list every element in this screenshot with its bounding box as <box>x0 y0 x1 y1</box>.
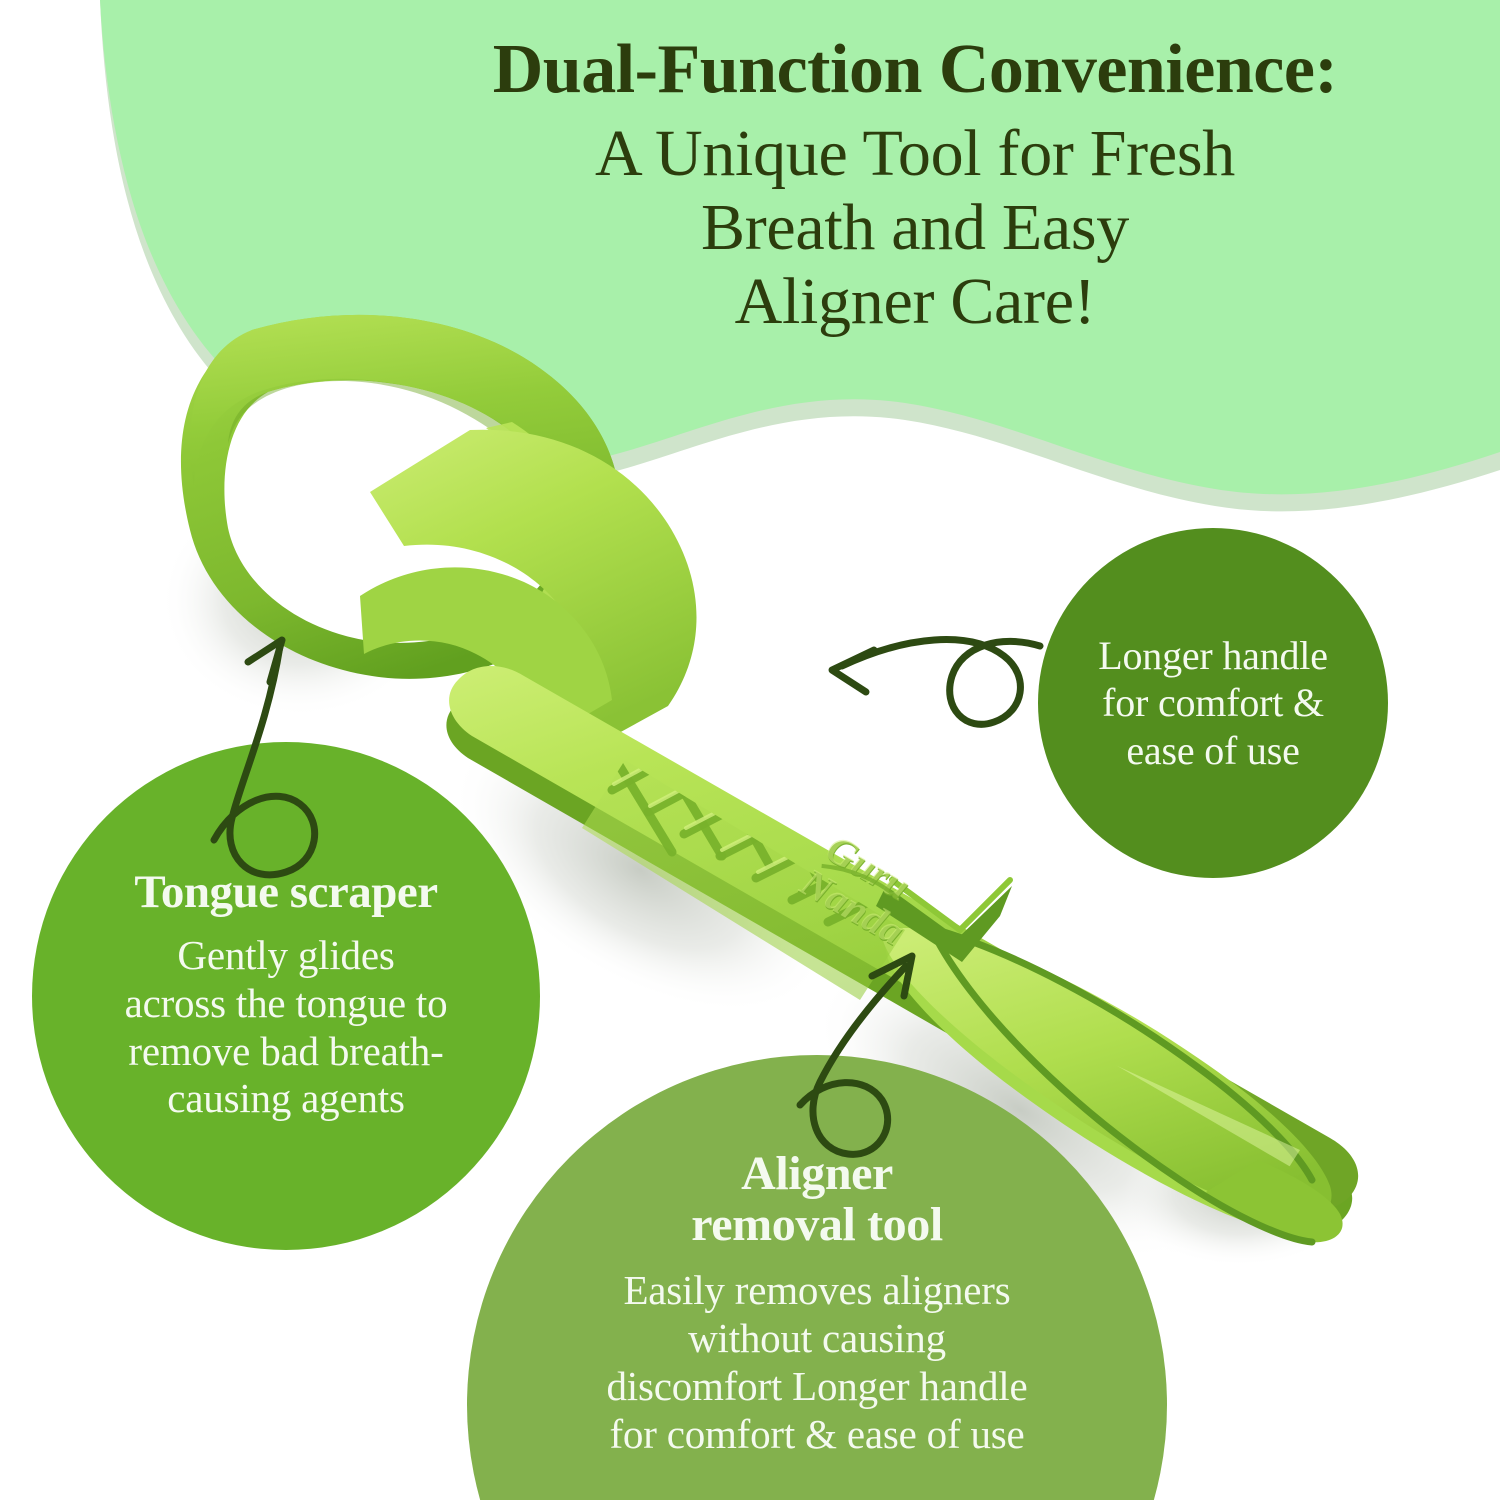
arrow-to-aligner-tool-icon <box>800 956 912 1154</box>
arrow-to-handle-icon <box>832 640 1040 725</box>
infographic-canvas: Dual-Function Convenience: A Unique Tool… <box>0 0 1500 1500</box>
arrow-to-tongue-scraper-icon <box>214 640 315 875</box>
callout-arrows <box>0 0 1500 1500</box>
